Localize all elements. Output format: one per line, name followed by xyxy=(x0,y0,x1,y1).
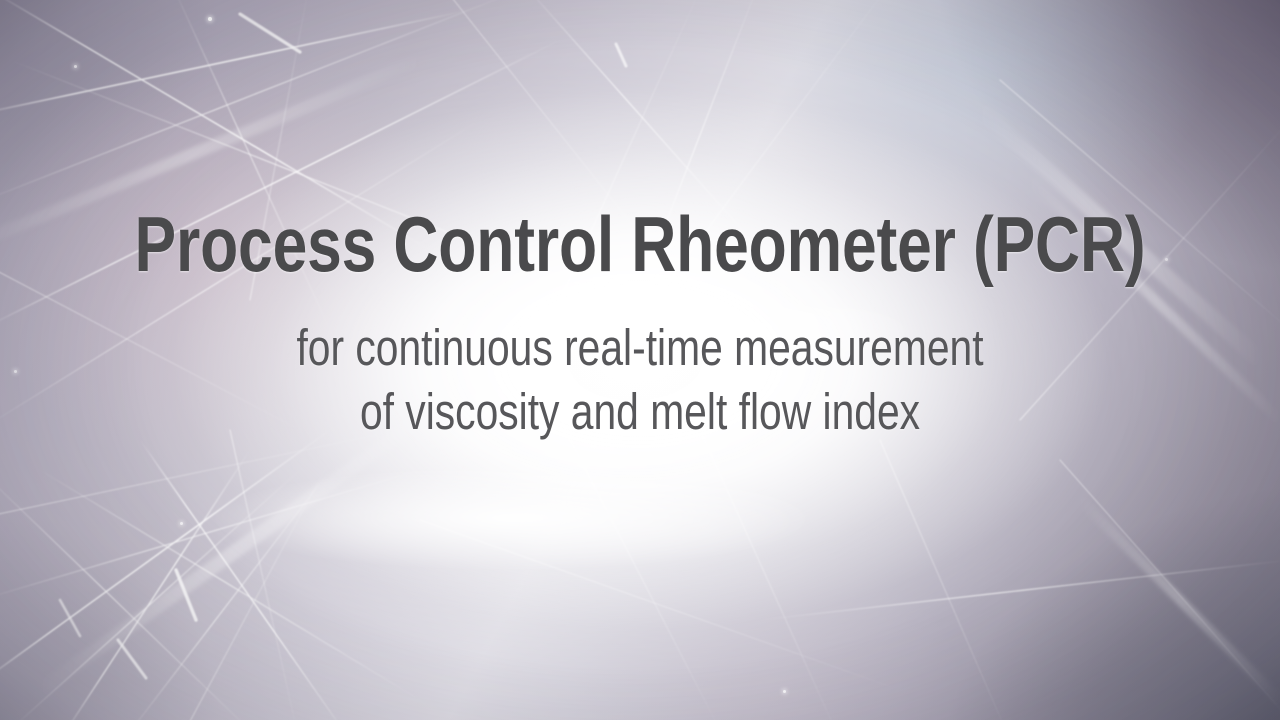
slide-subtitle-line-1: for continuous real-time measurement xyxy=(128,316,1152,380)
sparkle-dot xyxy=(74,65,77,68)
slide-subtitle-line-2: of viscosity and melt flow index xyxy=(128,380,1152,444)
slide-title: Process Control Rheometer (PCR) xyxy=(128,196,1152,292)
slide-subtitle: for continuous real-time measurement of … xyxy=(0,316,1280,444)
sparkle-dot xyxy=(180,522,183,525)
sparkle-dot xyxy=(783,690,786,693)
sparkle-dot xyxy=(208,17,212,21)
slide-text-block: Process Control Rheometer (PCR) for cont… xyxy=(0,196,1280,444)
title-slide: Process Control Rheometer (PCR) for cont… xyxy=(0,0,1280,720)
